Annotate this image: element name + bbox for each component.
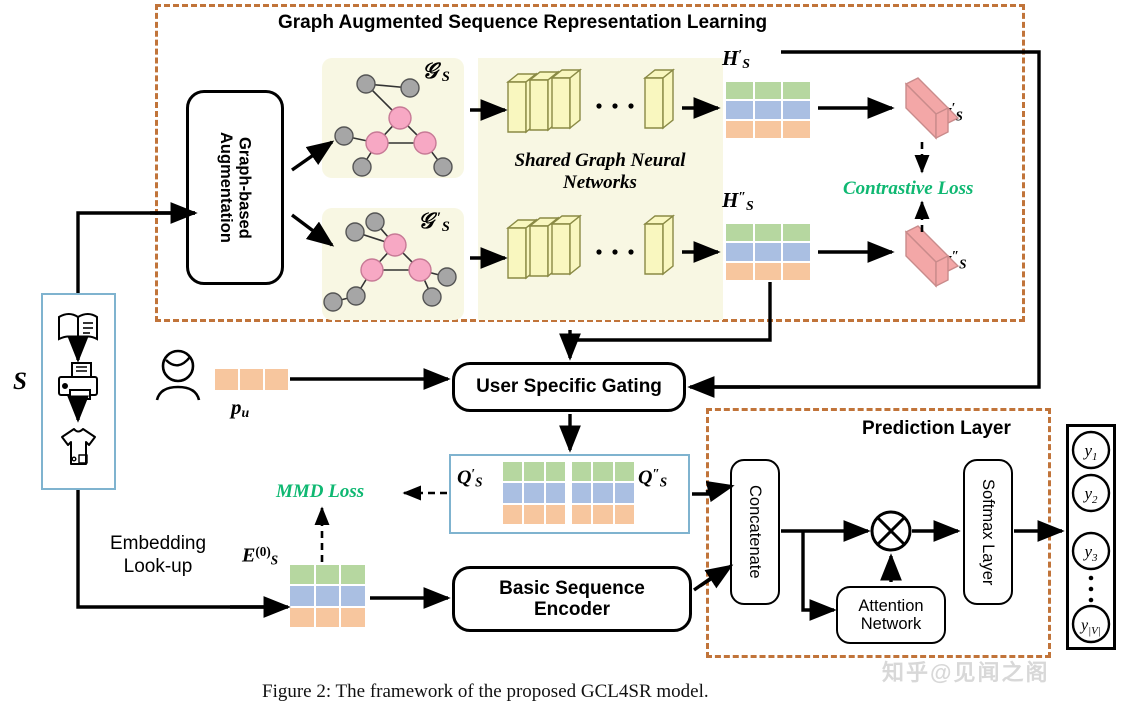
softmax-layer-label: Softmax Layer: [979, 479, 997, 585]
output-vector-box: [1066, 424, 1116, 650]
basic-sequence-encoder-block[interactable]: Basic Sequence Encoder: [452, 566, 692, 632]
softmax-layer-block[interactable]: Softmax Layer: [963, 459, 1013, 605]
attention-network-block[interactable]: Attention Network: [836, 586, 946, 644]
sequence-label-s: S: [13, 368, 27, 396]
figure-caption: Figure 2: The framework of the proposed …: [262, 681, 709, 703]
matrix-h-prime: [726, 82, 810, 138]
matrix-p-u: [215, 369, 288, 390]
concatenate-label: Concatenate: [746, 485, 764, 579]
matrix-q-double-prime: [572, 462, 634, 524]
matrix-q-prime: [503, 462, 565, 524]
basic-sequence-encoder-label: Basic Sequence Encoder: [499, 578, 645, 621]
embedding-lookup-label: Embedding Look-up: [88, 533, 228, 579]
q-label-double-prime: Q″S: [638, 466, 667, 490]
graph-label-g-double-prime: 𝒢″S: [418, 208, 450, 236]
z-label-prime: z′S: [944, 100, 963, 124]
user-avatar-icon: [157, 351, 199, 400]
q-label-prime: Q′S: [457, 466, 483, 490]
z-label-double-prime: z″S: [944, 248, 966, 272]
contrastive-loss-label: Contrastive Loss: [843, 178, 973, 200]
matrix-h-double-prime: [726, 224, 810, 280]
graph-label-g-prime: 𝒢′S: [422, 58, 450, 86]
mmd-loss-label: MMD Loss: [276, 481, 364, 503]
concatenate-block[interactable]: Concatenate: [730, 459, 780, 605]
hidden-label-h-double-prime: H″S: [722, 188, 754, 214]
graph-based-augmentation-block[interactable]: Graph-based Augmentation: [186, 90, 284, 285]
group-prediction-layer-title: Prediction Layer: [862, 418, 1011, 440]
user-specific-gating-block[interactable]: User Specific Gating: [452, 362, 686, 412]
shared-gnn-caption: Shared Graph Neural Networks: [478, 150, 722, 194]
embedding-matrix-label: E(0)S: [242, 544, 278, 568]
attention-network-label: Attention Network: [858, 597, 923, 634]
hidden-label-h-prime: H′S: [722, 46, 750, 72]
group-graph-augmented-learning-title: Graph Augmented Sequence Representation …: [278, 12, 767, 34]
user-vector-label: pu: [231, 395, 249, 421]
user-specific-gating-label: User Specific Gating: [476, 376, 662, 397]
graph-based-augmentation-label: Graph-based Augmentation: [217, 132, 254, 243]
figure-canvas: Graph Augmented Sequence Representation …: [0, 0, 1124, 719]
matrix-e-zero: [290, 565, 365, 627]
input-sequence-box: [41, 293, 116, 490]
watermark: 知乎@见闻之阁: [882, 655, 1049, 687]
